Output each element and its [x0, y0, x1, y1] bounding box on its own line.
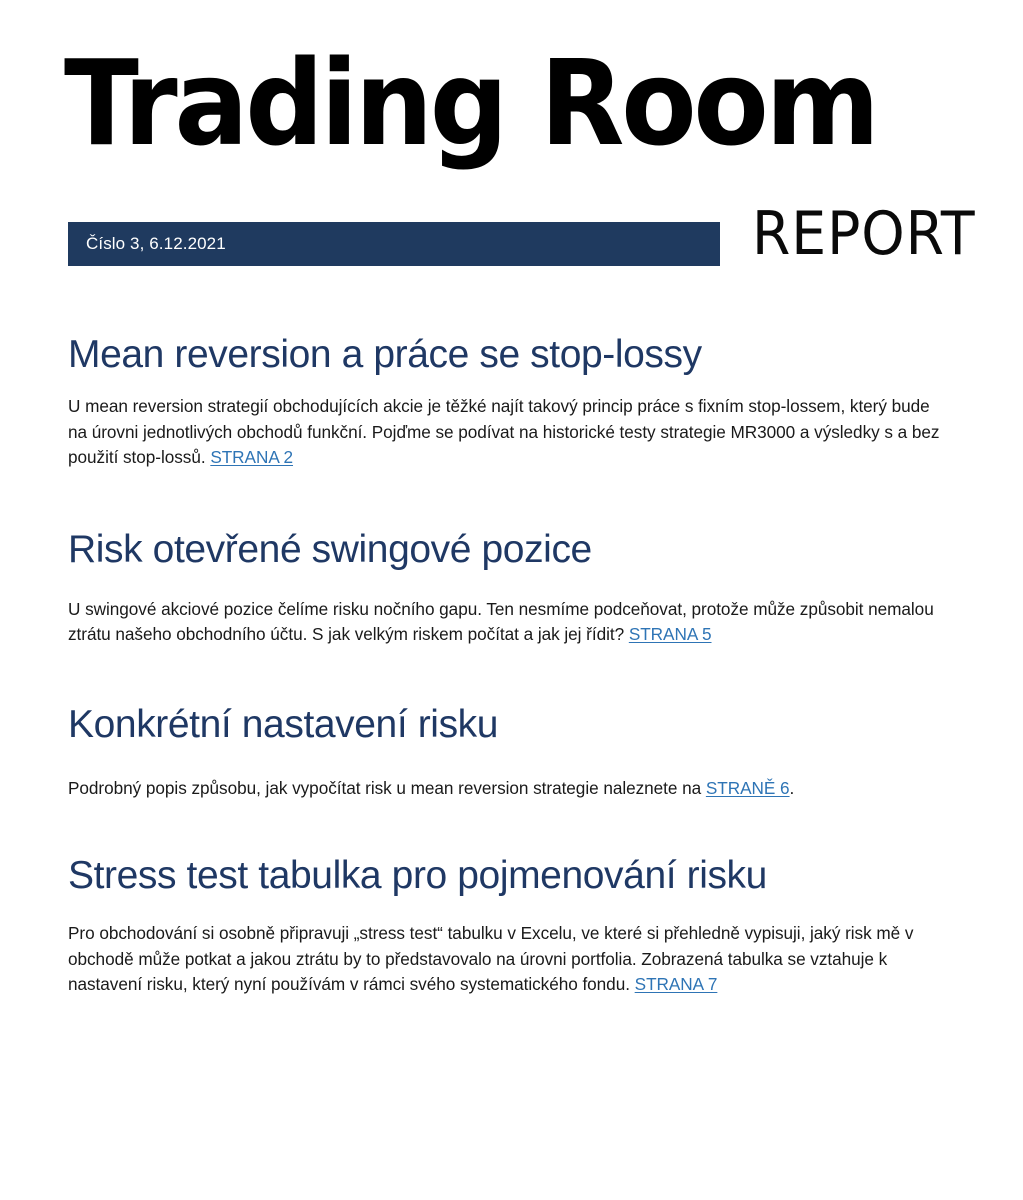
article-body-text: Podrobný popis způsobu, jak vypočítat ri… [68, 778, 706, 798]
article-heading: Risk otevřené swingové pozice [68, 525, 950, 575]
article-body-text: U mean reversion strategií obchodujících… [68, 396, 939, 467]
article-page-link[interactable]: STRANĚ 6 [706, 778, 790, 798]
article-body: Pro obchodování si osobně připravuji „st… [68, 921, 950, 998]
article-teaser: Konkrétní nastavení risku Podrobný popis… [68, 700, 950, 802]
article-teaser: Risk otevřené swingové pozice U swingové… [68, 525, 950, 648]
article-body-text: U swingové akciové pozice čelíme risku n… [68, 599, 934, 645]
report-wordmark: REPORT [752, 204, 976, 264]
article-body: U mean reversion strategií obchodujících… [68, 394, 950, 471]
article-page-link[interactable]: STRANA 5 [629, 624, 712, 644]
report-page: Trading Room Číslo 3, 6.12.2021 REPORT M… [0, 0, 1023, 1200]
article-heading: Mean reversion a práce se stop-lossy [68, 330, 950, 380]
article-page-link[interactable]: STRANA 7 [635, 974, 718, 994]
article-heading: Stress test tabulka pro pojmenování risk… [68, 851, 950, 901]
article-teaser: Stress test tabulka pro pojmenování risk… [68, 851, 950, 998]
article-body-text: Pro obchodování si osobně připravuji „st… [68, 923, 913, 994]
masthead: Trading Room Číslo 3, 6.12.2021 REPORT [0, 0, 1023, 300]
article-body-tail: . [790, 778, 795, 798]
issue-banner: Číslo 3, 6.12.2021 [68, 222, 720, 266]
article-page-link[interactable]: STRANA 2 [210, 447, 293, 467]
publication-title: Trading Room [64, 44, 901, 162]
article-heading: Konkrétní nastavení risku [68, 700, 950, 750]
article-body: Podrobný popis způsobu, jak vypočítat ri… [68, 776, 950, 802]
article-body: U swingové akciové pozice čelíme risku n… [68, 597, 950, 648]
masthead-bar-row: Číslo 3, 6.12.2021 REPORT [0, 222, 1023, 266]
article-list: Mean reversion a práce se stop-lossy U m… [68, 330, 950, 1010]
article-teaser: Mean reversion a práce se stop-lossy U m… [68, 330, 950, 471]
issue-label: Číslo 3, 6.12.2021 [86, 222, 226, 266]
